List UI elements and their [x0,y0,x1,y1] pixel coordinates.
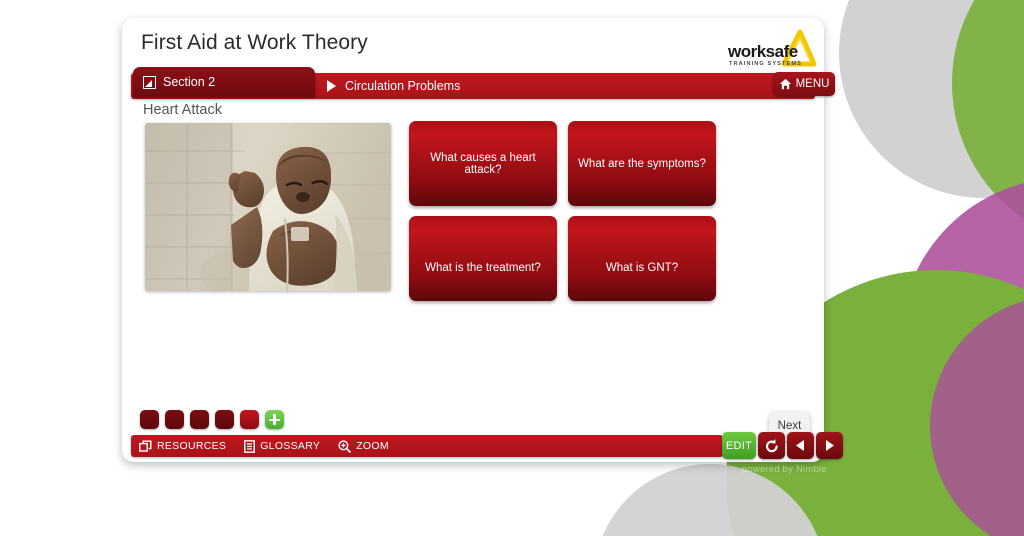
tab-section-label: Section 2 [163,75,215,89]
section-icon [143,76,156,89]
back-button[interactable] [787,432,814,459]
breadcrumb[interactable]: Circulation Problems [327,75,460,97]
powered-by-text: powered by Nimble [742,464,827,475]
next-triangle-icon [823,439,836,452]
replay-button[interactable] [758,432,785,459]
tile-what-is-the-treatment[interactable]: What is the treatment? [409,216,557,301]
edit-button[interactable]: EDIT [722,432,756,459]
tile-label: What is GNT? [600,262,684,274]
tile-label: What is the treatment? [419,262,547,274]
toolbar-label: RESOURCES [157,440,226,452]
toolbar-item-resources[interactable]: RESOURCES [139,440,226,453]
man-clutching-chest-photo [145,123,391,291]
add-page-button[interactable] [265,410,284,429]
tile-what-causes-a-heart-attack[interactable]: What causes a heart attack? [409,121,557,206]
tab-section-2[interactable]: Section 2 [133,67,315,97]
home-icon [779,78,792,90]
bottom-toolbar: RESOURCES GLOSSARY ZOOM [131,435,723,457]
navigation-controls: EDIT [722,432,843,459]
course-player-card: First Aid at Work Theory worksafe TRAINI… [122,18,824,462]
progress-dot[interactable] [165,410,184,429]
menu-button[interactable]: MENU [773,72,835,96]
back-triangle-icon [794,439,807,452]
content-heading: Heart Attack [143,102,222,118]
progress-dot[interactable] [190,410,209,429]
zoom-in-icon [338,440,351,453]
toolbar-item-glossary[interactable]: GLOSSARY [244,440,320,453]
tile-what-is-gnt[interactable]: What is GNT? [568,216,716,301]
progress-dot[interactable] [140,410,159,429]
toolbar-label: ZOOM [356,440,389,452]
toolbar-item-zoom[interactable]: ZOOM [338,440,389,453]
toolbar-label: GLOSSARY [260,440,320,452]
glossary-icon [244,440,255,453]
breadcrumb-label: Circulation Problems [345,79,460,93]
resources-icon [139,440,152,453]
tile-label: What are the symptoms? [572,158,712,170]
tab-strip: Section 2 Circulation Problems [131,67,815,93]
next-button[interactable] [816,432,843,459]
progress-dot-current[interactable] [240,410,259,429]
tile-label: What causes a heart attack? [409,152,557,176]
replay-icon [764,438,780,454]
edit-label: EDIT [726,440,752,452]
page-title: First Aid at Work Theory [141,31,368,55]
menu-label: MENU [796,78,830,90]
svg-text:worksafe: worksafe [727,42,798,61]
progress-dot[interactable] [215,410,234,429]
play-triangle-icon [327,80,336,92]
tile-what-are-the-symptoms[interactable]: What are the symptoms? [568,121,716,206]
progress-dots [140,410,284,429]
